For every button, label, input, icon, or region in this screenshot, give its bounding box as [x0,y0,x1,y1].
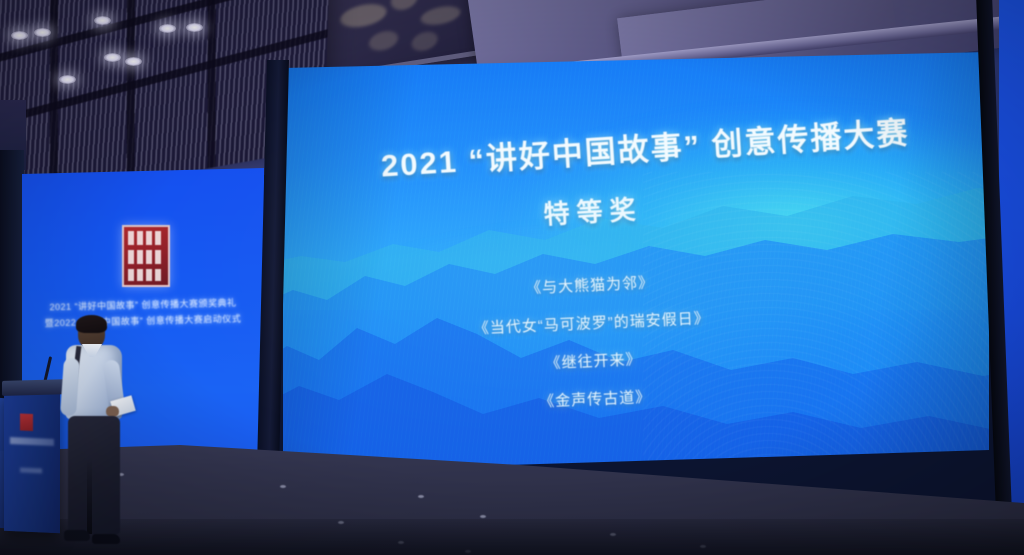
screenshot-root: 2021 “讲好中国故事” 创意传播大赛颁奖典礼 暨2022 “讲好中国故事” … [0,0,1024,555]
floor-front-shadow [0,519,1024,555]
list-item: 《继往开来》 [353,339,833,382]
slide-content: 2021 “讲好中国故事” 创意传播大赛 特等奖 《与大熊猫为邻》 《当代女“马… [283,52,989,472]
podium [4,391,60,533]
ceiling-spotlight [34,28,51,37]
main-led-screen: 2021 “讲好中国故事” 创意传播大赛 特等奖 《与大熊猫为邻》 《当代女“马… [283,52,989,472]
speaker-shoe-left [64,530,90,541]
list-item: 《与大熊猫为邻》 [350,263,830,306]
slide-title: 2021 “讲好中国故事” 创意传播大赛 [344,105,946,188]
winning-works-list: 《与大熊猫为邻》 《当代女“马可波罗”的瑞安假日》 《继往开来》 《金声传古道》 [350,263,836,437]
speaker-trousers [68,416,120,534]
ceiling-spotlight [159,24,176,33]
speaker-hair [76,315,107,333]
speaker [56,318,132,544]
logo-glyphs [128,231,164,281]
podium-text-line [10,437,54,446]
podium-text-line-secondary [20,467,42,473]
story-china-logo [122,225,170,287]
slide-award-level: 特等奖 [432,183,754,238]
ceiling-spotlight [59,75,76,84]
ceiling-spotlight [11,31,28,40]
ceiling-spotlight [94,16,111,25]
floor-reflection [480,515,486,518]
ceiling-spotlight [104,53,121,62]
podium-emblem [20,413,33,431]
ceiling-spotlight [125,57,142,66]
speaker-leg-gap [87,458,92,534]
floor-reflection [418,495,424,498]
speaker-shoe-right [92,534,120,544]
floor-reflection [280,485,286,488]
list-item: 《金声传古道》 [355,377,835,420]
list-item: 《当代女“马可波罗”的瑞安假日》 [352,301,832,344]
ceiling-spotlight [186,23,203,32]
